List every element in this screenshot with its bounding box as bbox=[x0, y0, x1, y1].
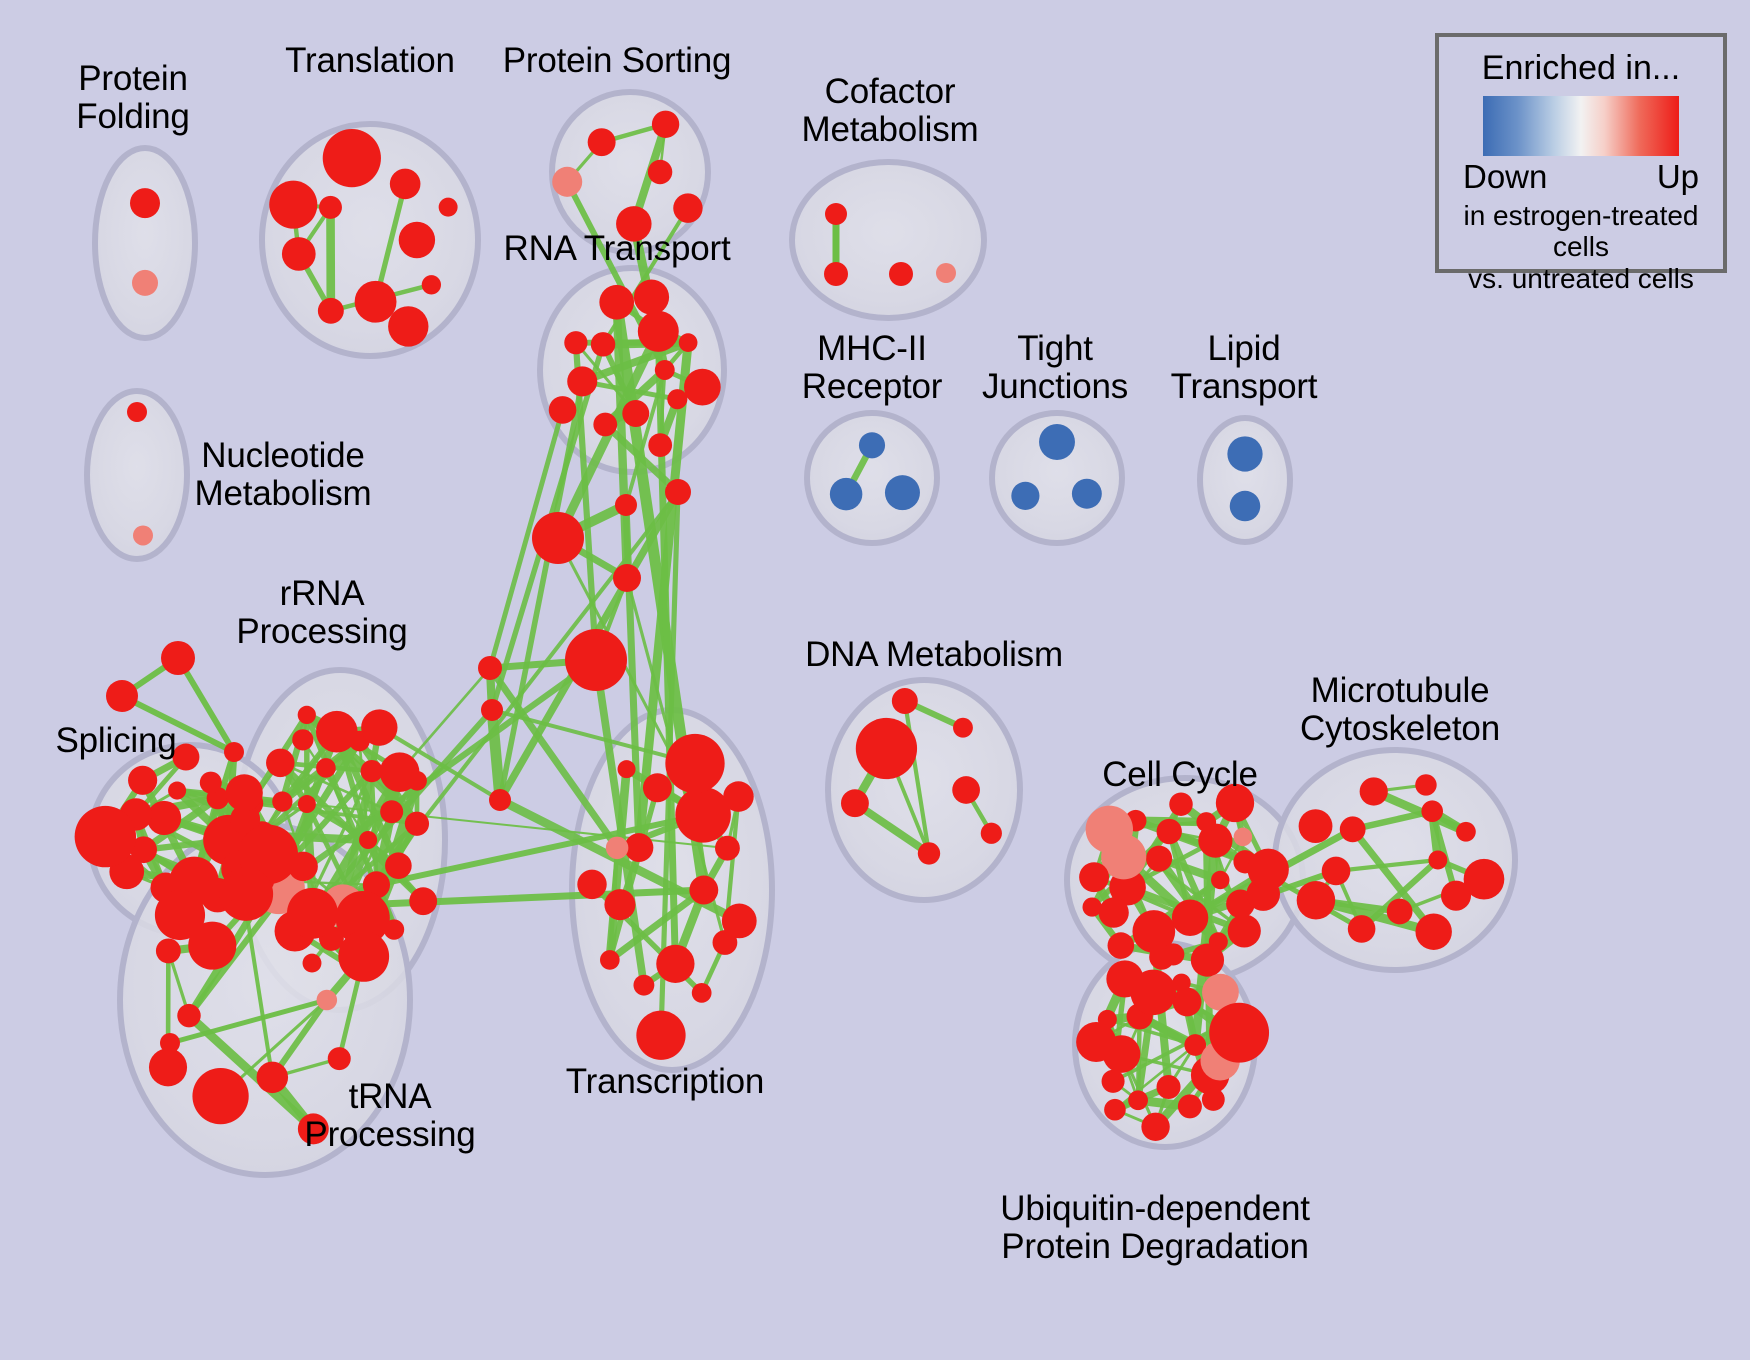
node-bridge bbox=[161, 641, 195, 675]
node-transcription bbox=[723, 781, 754, 812]
node-cell-cycle bbox=[1196, 812, 1216, 832]
node-transcription bbox=[643, 773, 672, 802]
node-protein-sorting bbox=[652, 111, 679, 138]
node-rrna-processing bbox=[380, 800, 403, 823]
node-bridge bbox=[613, 564, 641, 592]
legend-box: Enriched in... Down Up in estrogen-treat… bbox=[1435, 33, 1727, 273]
node-dna-metabolism bbox=[841, 789, 869, 817]
node-ubiquitin-protein-degradation bbox=[1104, 1099, 1126, 1121]
cluster-label-rna-transport: RNA Transport bbox=[504, 230, 731, 268]
node-trna-processing bbox=[257, 1062, 288, 1093]
node-translation bbox=[318, 298, 344, 324]
node-rna-transport bbox=[549, 396, 577, 424]
node-transcription bbox=[577, 870, 606, 899]
node-rrna-processing bbox=[316, 758, 336, 778]
node-dna-metabolism bbox=[892, 688, 918, 714]
node-rrna-processing bbox=[303, 954, 322, 973]
node-rrna-processing bbox=[409, 887, 437, 915]
cluster-label-translation: Translation bbox=[285, 42, 455, 80]
node-microtubule-cytoskeleton bbox=[1340, 816, 1366, 842]
legend-high-label: Up bbox=[1657, 158, 1699, 196]
cluster-label-transcription: Transcription bbox=[566, 1063, 764, 1101]
node-ubiquitin-protein-degradation bbox=[1209, 1003, 1269, 1063]
node-cell-cycle bbox=[1228, 914, 1261, 947]
node-transcription bbox=[604, 889, 635, 920]
node-rna-transport bbox=[599, 285, 634, 320]
node-trna-processing bbox=[188, 922, 236, 970]
node-rna-transport bbox=[634, 280, 669, 315]
node-bridge bbox=[665, 479, 691, 505]
node-transcription bbox=[665, 734, 724, 793]
node-microtubule-cytoskeleton bbox=[1464, 859, 1505, 900]
node-cofactor-metabolism bbox=[936, 263, 956, 283]
node-splicing bbox=[147, 801, 181, 835]
node-rrna-processing bbox=[361, 760, 383, 782]
node-bridge bbox=[224, 742, 244, 762]
node-rrna-processing bbox=[407, 771, 427, 791]
node-rna-transport bbox=[567, 366, 597, 396]
node-mhc-ii-receptor bbox=[859, 432, 885, 458]
cluster-label-cell-cycle: Cell Cycle bbox=[1102, 756, 1258, 794]
node-cell-cycle bbox=[1086, 806, 1133, 853]
node-mhc-ii-receptor bbox=[885, 475, 920, 510]
node-transcription bbox=[633, 975, 654, 996]
cluster-label-ubiquitin-protein-degradation: Ubiquitin-dependent Protein Degradation bbox=[1000, 1190, 1310, 1266]
node-rrna-processing bbox=[385, 852, 412, 879]
node-cell-cycle bbox=[1079, 862, 1109, 892]
node-rna-transport bbox=[622, 400, 649, 427]
node-dna-metabolism bbox=[856, 718, 917, 779]
node-protein-sorting bbox=[673, 193, 702, 222]
cluster-ellipse-cofactor-metabolism bbox=[792, 162, 984, 318]
node-mhc-ii-receptor bbox=[830, 478, 863, 511]
node-translation bbox=[323, 129, 381, 187]
node-protein-folding bbox=[132, 270, 158, 296]
node-rna-transport bbox=[591, 332, 615, 356]
node-lipid-transport bbox=[1227, 436, 1262, 471]
node-trna-processing bbox=[288, 852, 317, 881]
network-figure: Protein FoldingTranslationProtein Sortin… bbox=[0, 0, 1750, 1360]
node-cell-cycle bbox=[1172, 900, 1208, 936]
node-rrna-processing bbox=[405, 812, 429, 836]
node-nucleotide-metabolism bbox=[133, 525, 153, 545]
node-trna-processing bbox=[156, 938, 181, 963]
node-ubiquitin-protein-degradation bbox=[1076, 1022, 1116, 1062]
node-trna-processing bbox=[317, 990, 338, 1011]
cluster-label-protein-folding: Protein Folding bbox=[76, 60, 189, 136]
node-tight-junctions bbox=[1011, 482, 1039, 510]
node-cell-cycle bbox=[1211, 871, 1229, 889]
node-microtubule-cytoskeleton bbox=[1428, 851, 1447, 870]
node-transcription bbox=[689, 876, 718, 905]
node-lipid-transport bbox=[1230, 491, 1260, 521]
node-ubiquitin-protein-degradation bbox=[1106, 960, 1143, 997]
legend-caption-line2: vs. untreated cells bbox=[1439, 263, 1723, 294]
node-transcription bbox=[636, 1011, 685, 1060]
node-trna-processing bbox=[149, 1048, 187, 1086]
cluster-label-nucleotide-metabolism: Nucleotide Metabolism bbox=[195, 437, 372, 513]
node-transcription bbox=[675, 787, 731, 843]
node-cell-cycle bbox=[1108, 932, 1135, 959]
node-ubiquitin-protein-degradation bbox=[1102, 1070, 1125, 1093]
node-rna-transport bbox=[638, 311, 679, 352]
node-transcription bbox=[600, 950, 620, 970]
node-ubiquitin-protein-degradation bbox=[1172, 974, 1190, 992]
node-rna-transport bbox=[593, 413, 617, 437]
cluster-ellipse-protein-folding bbox=[95, 148, 195, 338]
cluster-label-protein-sorting: Protein Sorting bbox=[503, 42, 732, 80]
legend-low-label: Down bbox=[1463, 158, 1547, 196]
node-rrna-processing bbox=[266, 749, 295, 778]
node-protein-sorting bbox=[552, 167, 582, 197]
node-bridge bbox=[565, 629, 627, 691]
node-dna-metabolism bbox=[953, 718, 973, 738]
node-dna-metabolism bbox=[918, 842, 940, 864]
node-cell-cycle bbox=[1191, 943, 1224, 976]
node-rrna-processing bbox=[298, 706, 316, 724]
node-cell-cycle bbox=[1169, 792, 1192, 815]
node-protein-folding bbox=[130, 188, 160, 218]
node-rrna-processing bbox=[298, 795, 316, 813]
node-bridge bbox=[160, 1033, 180, 1053]
node-rrna-processing bbox=[384, 919, 404, 939]
cluster-label-trna-processing: tRNA Processing bbox=[304, 1078, 475, 1154]
node-protein-sorting bbox=[588, 128, 616, 156]
node-rrna-processing bbox=[272, 791, 292, 811]
cluster-label-rrna-processing: rRNA Processing bbox=[236, 575, 407, 651]
node-rna-transport bbox=[679, 333, 698, 352]
node-rrna-processing bbox=[361, 709, 397, 745]
node-dna-metabolism bbox=[981, 823, 1002, 844]
node-microtubule-cytoskeleton bbox=[1387, 899, 1413, 925]
node-splicing bbox=[200, 772, 222, 794]
node-splicing bbox=[168, 782, 186, 800]
cluster-label-microtubule-cytoskeleton: Microtubule Cytoskeleton bbox=[1300, 672, 1500, 748]
node-bridge bbox=[106, 680, 138, 712]
node-translation bbox=[439, 198, 458, 217]
node-cell-cycle bbox=[1099, 898, 1129, 928]
node-transcription bbox=[656, 945, 694, 983]
node-translation bbox=[269, 181, 317, 229]
node-cell-cycle bbox=[1083, 897, 1102, 916]
node-bridge bbox=[489, 789, 511, 811]
node-trna-processing bbox=[328, 1047, 351, 1070]
node-cofactor-metabolism bbox=[825, 203, 847, 225]
node-rna-transport bbox=[655, 360, 675, 380]
node-cell-cycle bbox=[1234, 828, 1253, 847]
cluster-label-cofactor-metabolism: Cofactor Metabolism bbox=[802, 73, 979, 149]
node-translation bbox=[422, 275, 441, 294]
node-microtubule-cytoskeleton bbox=[1322, 857, 1351, 886]
node-cell-cycle bbox=[1157, 819, 1182, 844]
node-cell-cycle bbox=[1146, 846, 1172, 872]
node-microtubule-cytoskeleton bbox=[1421, 800, 1443, 822]
node-splicing bbox=[226, 774, 263, 811]
node-bridge bbox=[532, 512, 584, 564]
node-ubiquitin-protein-degradation bbox=[1157, 1075, 1181, 1099]
node-trna-processing bbox=[177, 1004, 200, 1027]
node-bridge bbox=[481, 699, 503, 721]
node-trna-processing bbox=[287, 888, 338, 939]
node-translation bbox=[355, 281, 397, 323]
node-transcription bbox=[692, 983, 712, 1003]
node-trna-processing bbox=[192, 1068, 248, 1124]
node-transcription bbox=[618, 760, 636, 778]
node-microtubule-cytoskeleton bbox=[1348, 915, 1376, 943]
node-ubiquitin-protein-degradation bbox=[1128, 1090, 1148, 1110]
node-microtubule-cytoskeleton bbox=[1415, 774, 1436, 795]
node-transcription bbox=[715, 836, 740, 861]
node-microtubule-cytoskeleton bbox=[1415, 914, 1451, 950]
node-cofactor-metabolism bbox=[889, 262, 913, 286]
node-transcription bbox=[606, 837, 628, 859]
node-cell-cycle bbox=[1248, 849, 1289, 890]
node-tight-junctions bbox=[1072, 479, 1102, 509]
node-cofactor-metabolism bbox=[824, 262, 848, 286]
node-translation bbox=[399, 222, 435, 258]
cluster-label-splicing: Splicing bbox=[56, 722, 177, 760]
node-transcription bbox=[722, 904, 757, 939]
node-translation bbox=[390, 169, 421, 200]
node-transcription bbox=[625, 833, 654, 862]
legend-colorbar bbox=[1483, 96, 1679, 156]
node-translation bbox=[319, 196, 342, 219]
node-trna-processing bbox=[224, 875, 252, 903]
node-trna-processing bbox=[338, 931, 389, 982]
legend-title: Enriched in... bbox=[1439, 49, 1723, 88]
node-microtubule-cytoskeleton bbox=[1360, 777, 1388, 805]
node-microtubule-cytoskeleton bbox=[1456, 822, 1476, 842]
node-dna-metabolism bbox=[952, 776, 980, 804]
node-rna-transport bbox=[648, 433, 672, 457]
node-rna-transport bbox=[667, 389, 687, 409]
node-ubiquitin-protein-degradation bbox=[1141, 1113, 1169, 1141]
cluster-label-lipid-transport: Lipid Transport bbox=[1171, 330, 1318, 406]
node-rrna-processing bbox=[359, 831, 377, 849]
node-translation bbox=[282, 237, 316, 271]
node-tight-junctions bbox=[1039, 424, 1075, 460]
cluster-label-tight-junctions: Tight Junctions bbox=[982, 330, 1128, 406]
node-bridge bbox=[615, 494, 637, 516]
node-rrna-processing bbox=[292, 729, 313, 750]
node-microtubule-cytoskeleton bbox=[1299, 809, 1333, 843]
node-nucleotide-metabolism bbox=[127, 402, 147, 422]
node-microtubule-cytoskeleton bbox=[1297, 881, 1336, 920]
node-ubiquitin-protein-degradation bbox=[1173, 987, 1202, 1016]
node-bridge bbox=[478, 656, 502, 680]
node-rrna-processing bbox=[316, 711, 358, 753]
node-translation bbox=[388, 306, 428, 346]
node-ubiquitin-protein-degradation bbox=[1149, 944, 1174, 969]
node-ubiquitin-protein-degradation bbox=[1202, 1088, 1225, 1111]
cluster-label-mhc-ii-receptor: MHC-II Receptor bbox=[802, 330, 942, 406]
legend-caption-line1: in estrogen-treated cells bbox=[1439, 200, 1723, 263]
node-protein-sorting bbox=[648, 160, 672, 184]
node-rna-transport bbox=[684, 369, 721, 406]
node-splicing bbox=[128, 766, 157, 795]
node-ubiquitin-protein-degradation bbox=[1178, 1094, 1202, 1118]
node-splicing bbox=[75, 806, 136, 867]
cluster-label-dna-metabolism: DNA Metabolism bbox=[805, 636, 1063, 674]
node-rna-transport bbox=[564, 331, 587, 354]
